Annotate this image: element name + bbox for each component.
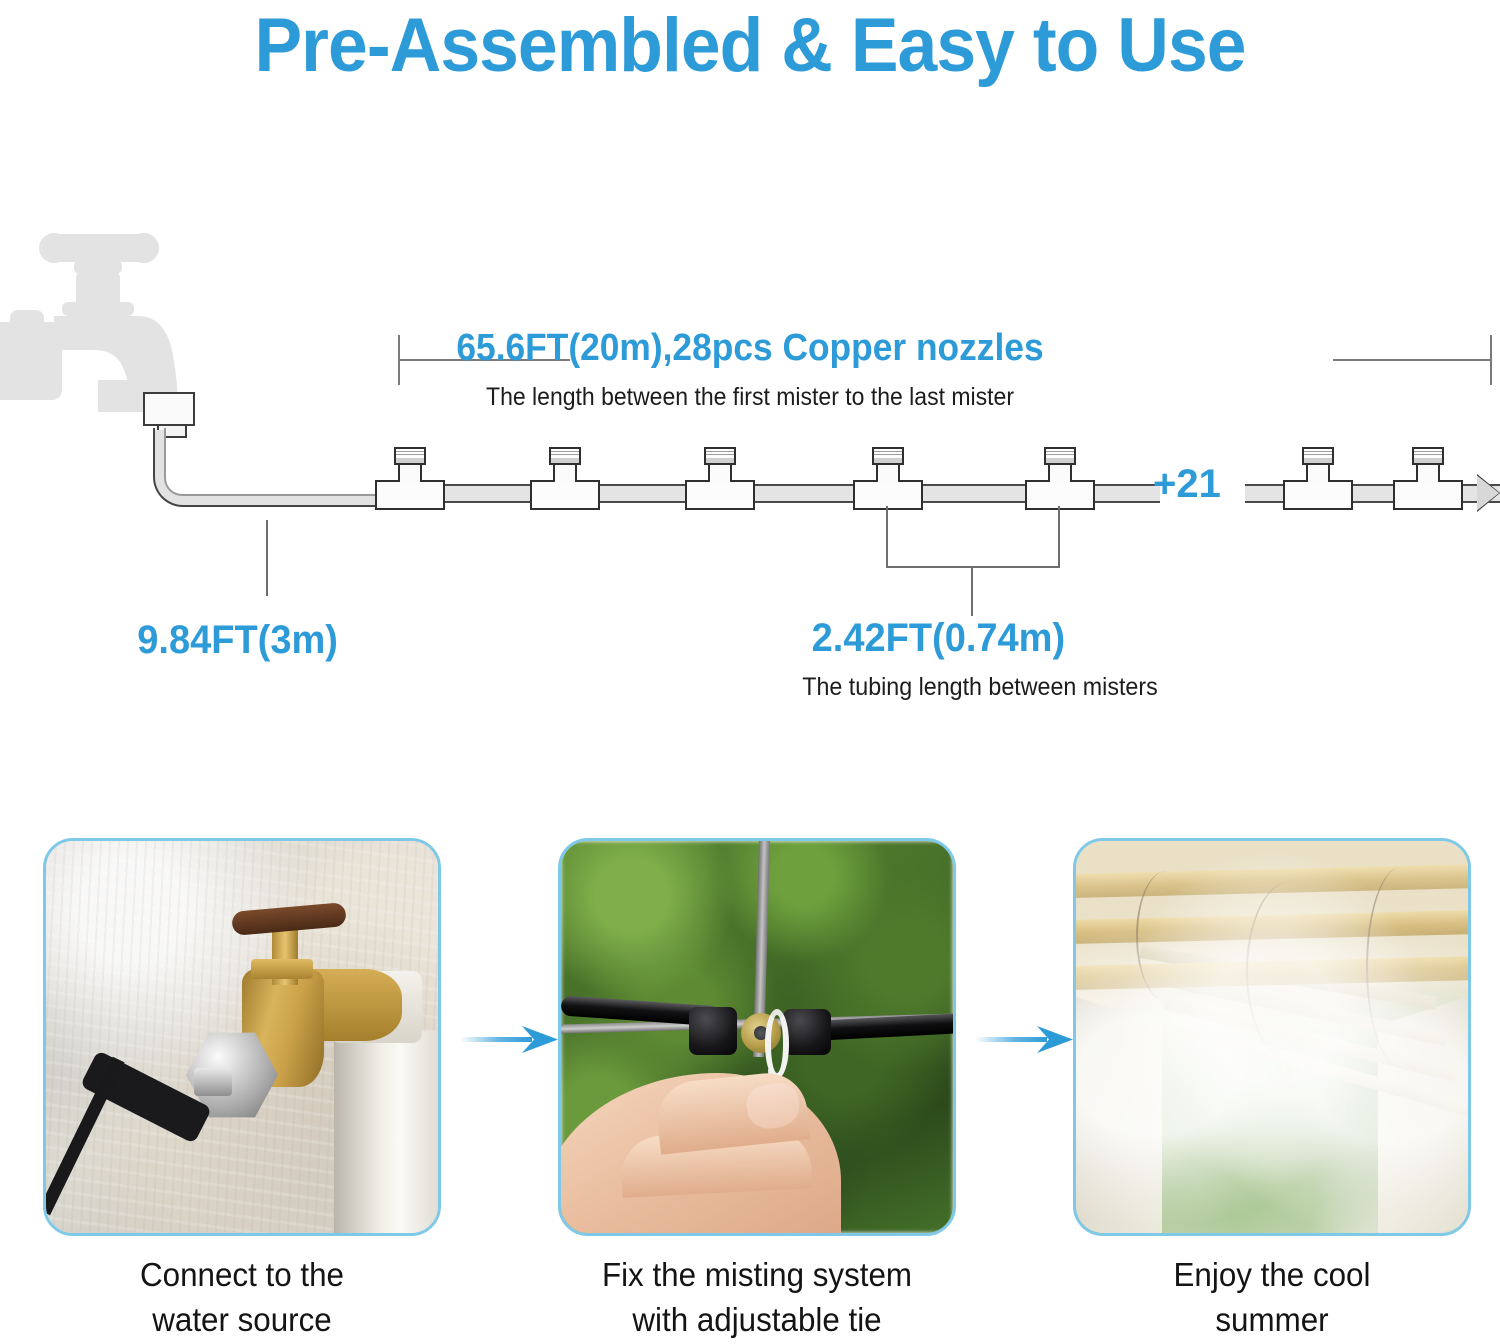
lead-hose-leader-line: [266, 520, 268, 596]
end-plug-icon: [1477, 474, 1500, 512]
copper-nozzle-icon: [549, 447, 581, 465]
tee-stem: [708, 462, 732, 482]
spigot-hose-connection-photo: [46, 841, 438, 1233]
brass-bonnet-nut: [251, 959, 313, 979]
tee-body: [853, 480, 923, 510]
system-diagram: 65.6FT(20m),28pcs Copper nozzles The len…: [0, 0, 1500, 820]
infographic-root: Pre-Assembled & Easy to Use: [0, 0, 1500, 1344]
tee-body: [530, 480, 600, 510]
step-caption-1: Connect to the water source: [38, 1252, 447, 1342]
arrow-right-icon: [975, 1022, 1075, 1058]
mister-fitting-right: [783, 1009, 831, 1055]
pvc-pipe: [334, 1031, 441, 1236]
dimension-tick-right: [1490, 335, 1492, 385]
tee-body: [685, 480, 755, 510]
tee-stem: [1048, 462, 1072, 482]
tee-body: [1283, 480, 1353, 510]
chrome-ferrule: [194, 1068, 232, 1096]
tee-stem: [876, 462, 900, 482]
water-mist: [1076, 841, 1468, 1233]
step-photo-3: [1073, 838, 1471, 1236]
nozzle-zip-tie-photo: [561, 841, 953, 1233]
spacing-bracket-right: [1058, 506, 1060, 568]
mister-tee-icon: [530, 448, 600, 510]
mister-tee-icon: [1283, 448, 1353, 510]
tee-body: [1025, 480, 1095, 510]
tee-stem: [1306, 462, 1330, 482]
mister-tee-icon: [685, 448, 755, 510]
mister-tee-icon: [375, 448, 445, 510]
mister-tee-icon: [1393, 448, 1463, 510]
tee-body: [1393, 480, 1463, 510]
copper-nozzle-icon: [872, 447, 904, 465]
arrow-right-icon: [460, 1022, 560, 1058]
pergola-misting-photo: [1076, 841, 1468, 1233]
spacing-bracket-base: [886, 566, 1060, 568]
total-length-label: 65.6FT(20m),28pcs Copper nozzles: [53, 327, 1448, 370]
mister-tee-icon: [853, 448, 923, 510]
copper-nozzle-icon: [1044, 447, 1076, 465]
copper-nozzle-icon: [1412, 447, 1444, 465]
step-caption-3: Enjoy the cool summer: [1068, 1252, 1477, 1342]
tee-stem: [1416, 462, 1440, 482]
hose-inner-outline: [164, 428, 407, 496]
spacing-bracket-left: [886, 506, 888, 568]
mister-fitting-left: [689, 1007, 737, 1055]
tee-body: [375, 480, 445, 510]
tee-stem: [553, 462, 577, 482]
spacing-leader-line: [971, 566, 973, 616]
mister-tee-icon: [1025, 448, 1095, 510]
spacing-label: 2.42FT(0.74m): [812, 616, 1065, 661]
spacing-sublabel: The tubing length between misters: [785, 673, 1176, 702]
copper-nozzle-icon: [1302, 447, 1334, 465]
copper-nozzle-icon: [704, 447, 736, 465]
step-photo-2: [558, 838, 956, 1236]
copper-nozzle-icon: [394, 447, 426, 465]
step-caption-2: Fix the misting system with adjustable t…: [553, 1252, 962, 1342]
lead-hose-label: 9.84FT(3m): [137, 618, 338, 663]
tee-stem: [398, 462, 422, 482]
total-length-sublabel: The length between the first mister to t…: [60, 383, 1440, 412]
step-photo-1: [43, 838, 441, 1236]
remaining-nozzles-label: +21: [1153, 462, 1221, 507]
